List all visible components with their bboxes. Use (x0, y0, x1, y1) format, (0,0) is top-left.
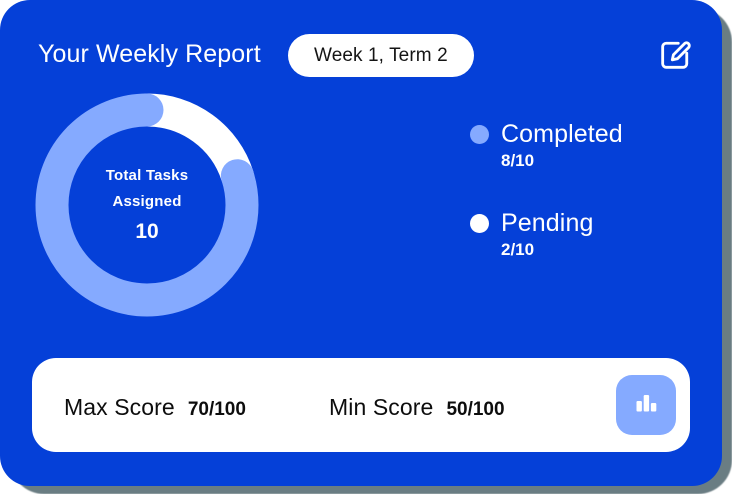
legend-dot-pending-icon (470, 214, 489, 233)
max-score-group: Max Score 70/100 (64, 394, 246, 421)
legend-label-completed: Completed (501, 120, 623, 149)
period-pill[interactable]: Week 1, Term 2 (288, 34, 474, 77)
tasks-donut-chart: Total Tasks Assigned 10 (34, 92, 260, 318)
donut-total-value: 10 (135, 217, 158, 247)
legend-value-pending: 2/10 (501, 240, 700, 260)
edit-square-pencil-icon (657, 39, 691, 78)
page-title: Your Weekly Report (38, 40, 261, 69)
period-pill-label: Week 1, Term 2 (314, 45, 448, 67)
min-score-label: Min Score (329, 394, 433, 421)
donut-caption-line-1: Total Tasks (106, 163, 189, 189)
edit-report-button[interactable] (652, 38, 696, 78)
legend-dot-completed-icon (470, 125, 489, 144)
min-score-value: 50/100 (446, 399, 504, 421)
card-header: Your Weekly Report Week 1, Term 2 (0, 0, 722, 96)
max-score-label: Max Score (64, 394, 175, 421)
bar-chart-icon (631, 388, 661, 423)
legend-value-completed: 8/10 (501, 151, 700, 171)
score-summary-bar: Max Score 70/100 Min Score 50/100 (32, 358, 690, 452)
legend-label-pending: Pending (501, 209, 593, 238)
legend-item-completed[interactable]: Completed 8/10 (470, 120, 700, 171)
weekly-report-card: Your Weekly Report Week 1, Term 2 (0, 0, 722, 486)
chart-legend: Completed 8/10 Pending 2/10 (470, 120, 700, 260)
min-score-group: Min Score 50/100 (329, 394, 505, 421)
donut-caption-line-2: Assigned (112, 189, 181, 215)
donut-center-label: Total Tasks Assigned 10 (34, 92, 260, 318)
screenshot-stage: Your Weekly Report Week 1, Term 2 (0, 0, 732, 494)
view-chart-button[interactable] (616, 375, 676, 435)
legend-item-pending[interactable]: Pending 2/10 (470, 209, 700, 260)
max-score-value: 70/100 (188, 399, 246, 421)
